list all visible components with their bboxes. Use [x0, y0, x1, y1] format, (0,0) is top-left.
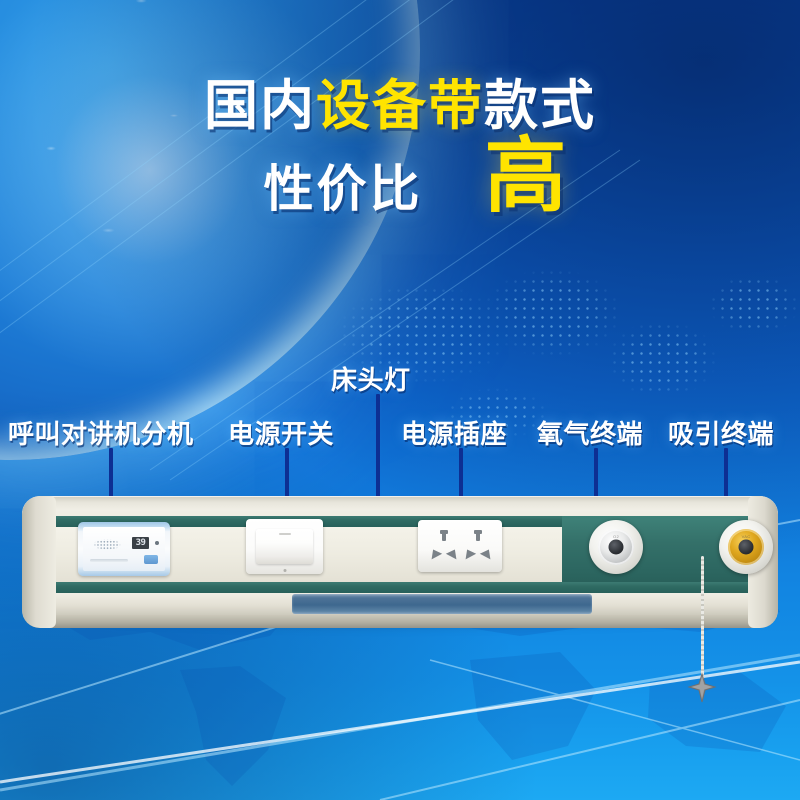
speaker-grille-icon [90, 537, 124, 552]
socket-earth-pin-icon [476, 531, 480, 541]
suction-terminal[interactable]: VAC [719, 520, 773, 574]
callout-label-power-socket: 电源插座 [401, 414, 507, 451]
suction-terminal-marking: VAC [742, 534, 751, 539]
socket-outlet-left[interactable] [428, 531, 460, 561]
callout-label-power-switch: 电源开关 [228, 414, 334, 451]
callout-layer: 呼叫对讲机分机 电源开关 床头灯 电源插座 氧气终端 吸引终端 [0, 0, 800, 800]
oxygen-terminal-face[interactable]: O2 [598, 529, 634, 565]
callout-label-oxygen: 氧气终端 [537, 414, 643, 451]
oxygen-terminal-port[interactable] [609, 540, 624, 555]
switch-rocker[interactable] [256, 529, 313, 564]
switch-screw [283, 569, 286, 572]
socket-neutral-pin-icon [446, 547, 460, 560]
intercom-vent-slot [90, 559, 128, 562]
bed-head-unit: 39 [22, 496, 778, 628]
intercom-faceplate: 39 [83, 527, 165, 571]
pull-cord[interactable] [701, 556, 704, 680]
status-led-icon [155, 541, 159, 545]
oxygen-terminal-marking: O2 [613, 534, 619, 539]
socket-earth-pin-icon [442, 531, 446, 541]
socket-neutral-pin-icon [480, 547, 494, 560]
poster-canvas: 国内设备带款式 性价比 高 呼叫对讲机分机 电源开关 床头灯 电源插座 氧气终端… [0, 0, 800, 800]
panel-stripe-bottom [56, 582, 748, 593]
callout-label-bed-lamp: 床头灯 [331, 360, 411, 397]
callout-label-intercom: 呼叫对讲机分机 [8, 414, 194, 451]
nurse-call-intercom[interactable]: 39 [78, 522, 170, 576]
pull-cord-handle[interactable] [686, 672, 718, 708]
bed-lamp-diffuser[interactable] [292, 594, 592, 614]
panel-bottom-lip [22, 615, 778, 628]
suction-terminal-port[interactable] [739, 540, 754, 555]
socket-live-pin-icon [462, 547, 476, 560]
call-button[interactable] [144, 555, 158, 564]
suction-terminal-face[interactable]: VAC [728, 529, 764, 565]
panel-end-cap-left [22, 496, 56, 628]
power-switch[interactable] [246, 519, 323, 574]
switch-tick-mark [279, 533, 291, 535]
socket-live-pin-icon [428, 547, 442, 560]
oxygen-terminal[interactable]: O2 [589, 520, 643, 574]
callout-label-suction: 吸引终端 [668, 414, 774, 451]
power-socket[interactable] [418, 520, 502, 572]
panel-body: 39 [22, 496, 778, 628]
intercom-display: 39 [132, 537, 149, 549]
socket-outlet-right[interactable] [462, 531, 494, 561]
